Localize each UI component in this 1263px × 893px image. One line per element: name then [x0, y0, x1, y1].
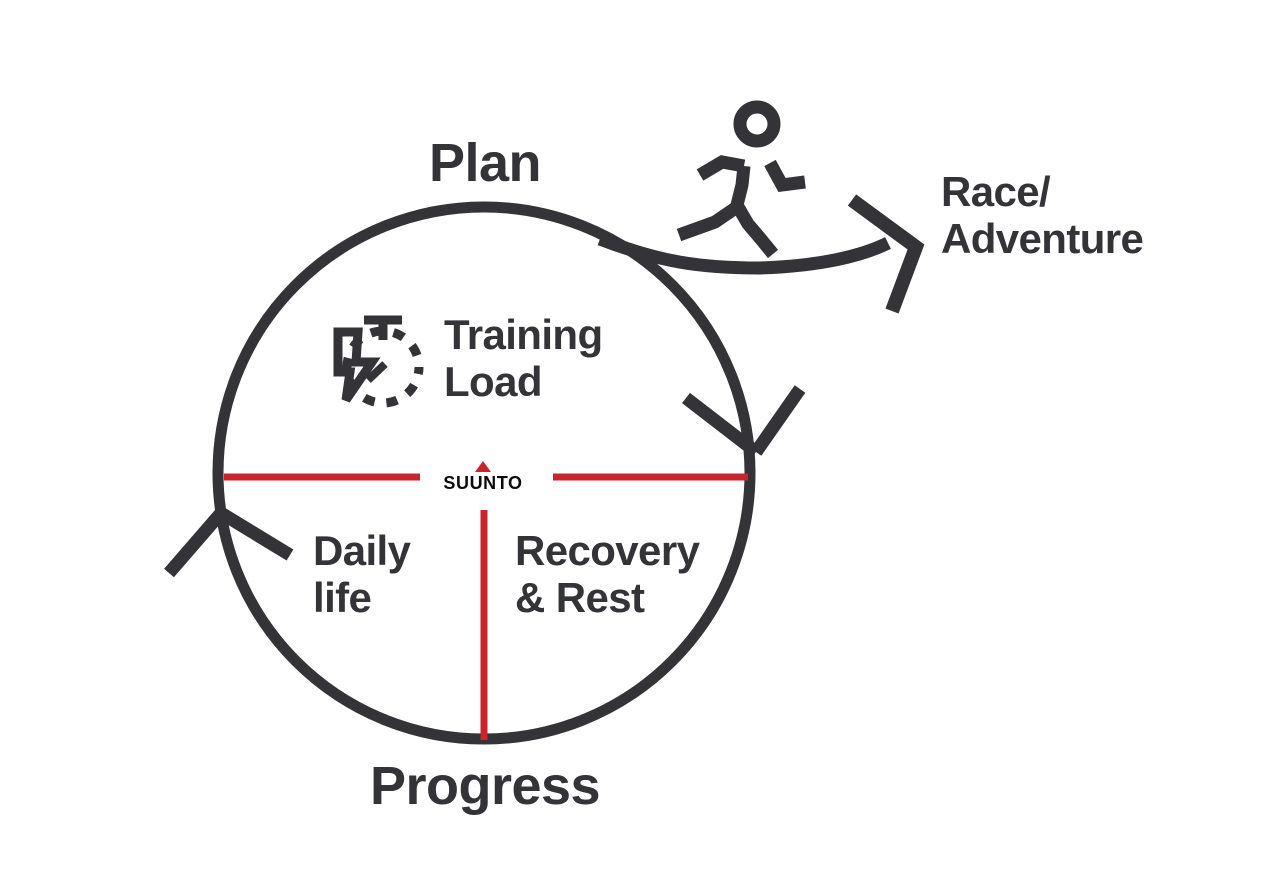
suunto-logo: SUUNTO — [403, 461, 563, 492]
label-progress: Progress — [0, 757, 970, 815]
label-race-adventure: Race/ Adventure — [941, 168, 1143, 262]
label-plan: Plan — [0, 134, 970, 192]
suunto-wordmark: SUUNTO — [403, 474, 563, 492]
diagram-canvas: Plan Progress Race/ Adventure Training L… — [0, 0, 1263, 893]
label-training-load: Training Load — [444, 311, 603, 406]
stopwatch-lightning-icon — [338, 320, 419, 403]
suunto-triangle-icon — [475, 461, 491, 472]
label-daily-life: Daily life — [313, 527, 410, 622]
label-recovery-rest: Recovery & Rest — [515, 527, 699, 622]
